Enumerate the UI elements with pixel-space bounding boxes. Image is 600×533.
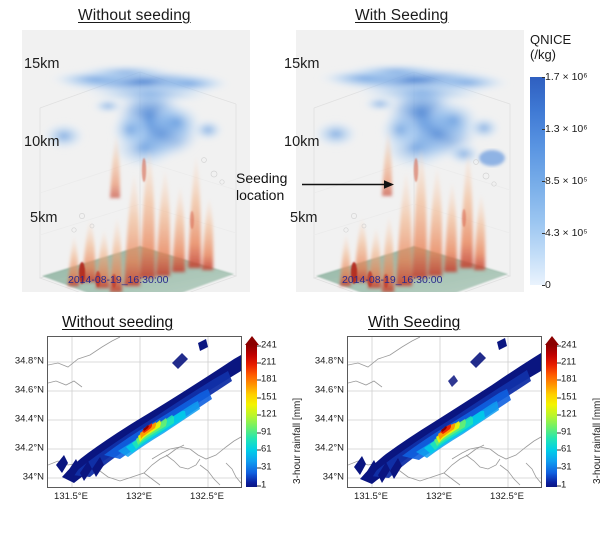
map-right-xtick-1: 132°E [426, 491, 452, 502]
map-left-cbtick-5: 91 [261, 427, 272, 438]
map-right-cbtick-3: 151 [561, 392, 577, 403]
map-left-graphic [48, 337, 241, 487]
qnice-tick-2: 8.5 × 10⁵ [545, 175, 588, 187]
map-right-cbtick-2: 181 [561, 374, 577, 385]
bottom-section-rainfall-maps: Without seeding With Seeding [0, 312, 600, 533]
map-left-cbtick-7: 31 [261, 462, 272, 473]
map-axes-right [347, 336, 542, 488]
panel-title-top-left: Without seeding [78, 7, 191, 25]
map-right-colorbar-cap [545, 336, 559, 345]
qnice-colorbar-title: QNICE [530, 32, 571, 47]
figure-root: Without seeding With Seeding [0, 0, 600, 533]
map-left-ytick-2: 34.4°N [2, 414, 44, 425]
map-left-colorbar-gradient [246, 345, 257, 487]
map-left-ytick-4: 34°N [2, 472, 44, 483]
volume-scene-right-graphic [296, 30, 524, 292]
map-right-ytick-2: 34.4°N [302, 414, 344, 425]
rainfall-map-with-seeding: 34.8°N 34.6°N 34.4°N 34.2°N 34°N 131.5°E… [300, 334, 600, 533]
map-left-ytick-1: 34.6°N [2, 385, 44, 396]
panel-title-top-right: With Seeding [355, 7, 448, 25]
map-right-cbtick-4: 121 [561, 409, 577, 420]
timestamp-left: 2014-08-19_16:30:00 [68, 274, 168, 286]
panel-title-bottom-left: Without seeding [62, 314, 173, 332]
qnice-tick-0: 1.7 × 10⁶ [545, 71, 588, 83]
altitude-label-15km-left: 15km [24, 56, 59, 72]
top-section-3d-volume: Without seeding With Seeding [0, 0, 600, 312]
map-left-ytick-0: 34.8°N [2, 356, 44, 367]
qnice-colorbar: QNICE (/kg) 1.7 × 10⁶ 1.3 × 10⁶ 8.5 × 10… [528, 32, 600, 302]
altitude-label-15km-right: 15km [284, 56, 319, 72]
map-right-xtick-0: 131.5°E [354, 491, 388, 502]
map-left-colorbar-cap [245, 336, 259, 345]
map-left-xtick-1: 132°E [126, 491, 152, 502]
altitude-label-5km-right: 5km [290, 210, 317, 226]
map-right-ytick-1: 34.6°N [302, 385, 344, 396]
map-right-cbtick-5: 91 [561, 427, 572, 438]
map-left-xtick-2: 132.5°E [190, 491, 224, 502]
map-axes-left [47, 336, 242, 488]
map-right-graphic [348, 337, 541, 487]
panel-title-bottom-right: With Seeding [368, 314, 460, 332]
map-right-cbtick-0: 241 [561, 340, 577, 351]
altitude-label-10km-right: 10km [284, 134, 319, 150]
seeding-annotation-line2: location [236, 187, 287, 204]
qnice-tick-1: 1.3 × 10⁶ [545, 123, 588, 135]
qnice-tick-4: 0 [545, 279, 551, 291]
map-left-cbtick-4: 121 [261, 409, 277, 420]
seeding-annotation-line1: Seeding [236, 170, 287, 187]
map-left-cbtick-3: 151 [261, 392, 277, 403]
map-left-xtick-0: 131.5°E [54, 491, 88, 502]
map-left-cbtick-0: 241 [261, 340, 277, 351]
map-left-cbtick-1: 211 [261, 357, 276, 368]
map-right-cbtick-1: 211 [561, 357, 576, 368]
map-right-colorbar-label: 3-hour rainfall [mm] [592, 398, 600, 484]
map-left-cbtick-8: 1 [261, 480, 266, 491]
map-right-ytick-3: 34.2°N [302, 443, 344, 454]
map-right-colorbar-gradient [546, 345, 557, 487]
map-right-cbtick-6: 61 [561, 444, 572, 455]
arrow-right-icon [302, 180, 394, 189]
qnice-colorbar-units: (/kg) [530, 47, 556, 62]
map-right-xtick-2: 132.5°E [490, 491, 524, 502]
map-left-cbtick-2: 181 [261, 374, 277, 385]
map-left-ytick-3: 34.2°N [2, 443, 44, 454]
seeding-location-annotation: Seeding location [236, 170, 287, 204]
altitude-label-10km-left: 10km [24, 134, 59, 150]
volume-render-with-seeding: 2014-08-19_16:30:00 [296, 30, 524, 292]
map-right-cbtick-7: 31 [561, 462, 572, 473]
map-right-cbtick-8: 1 [561, 480, 566, 491]
map-right-ytick-4: 34°N [302, 472, 344, 483]
rainfall-map-without-seeding: 34.8°N 34.6°N 34.4°N 34.2°N 34°N 131.5°E… [0, 334, 300, 533]
map-left-cbtick-6: 61 [261, 444, 272, 455]
timestamp-right: 2014-08-19_16:30:00 [342, 274, 442, 286]
altitude-label-5km-left: 5km [30, 210, 57, 226]
map-right-ytick-0: 34.8°N [302, 356, 344, 367]
qnice-tick-3: 4.3 × 10⁵ [545, 227, 588, 239]
